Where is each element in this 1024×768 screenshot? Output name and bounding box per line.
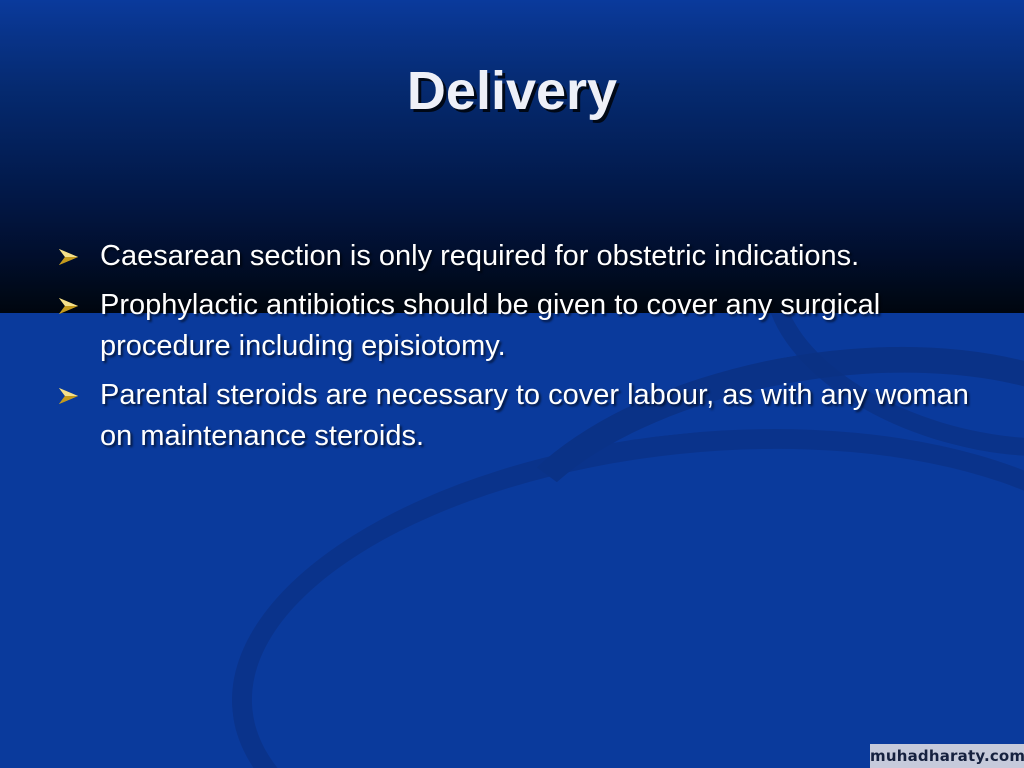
watermark-label: muhadharaty.com [870, 744, 1024, 768]
bullet-item-text: Caesarean section is only required for o… [100, 236, 992, 277]
bullet-arrow-icon [58, 236, 88, 277]
presentation-slide: Delivery Caesarean section is only requi… [0, 0, 1024, 768]
bullet-item-text: Prophylactic antibiotics should be given… [100, 285, 992, 367]
bullet-item: Parental steroids are necessary to cover… [52, 375, 992, 457]
bullet-item: Caesarean section is only required for o… [52, 236, 992, 277]
slide-body-bullet-list: Caesarean section is only required for o… [52, 236, 992, 465]
bullet-item: Prophylactic antibiotics should be given… [52, 285, 992, 367]
bullet-arrow-icon [58, 375, 88, 416]
slide-title: Delivery [0, 62, 1024, 121]
bullet-item-text: Parental steroids are necessary to cover… [100, 375, 992, 457]
bullet-arrow-icon [58, 285, 88, 326]
